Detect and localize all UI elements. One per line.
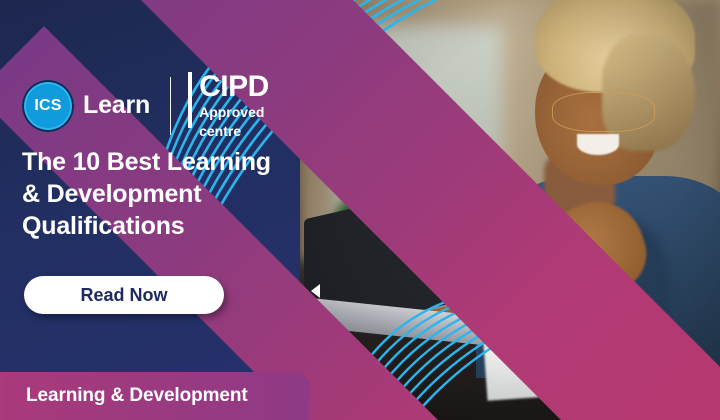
read-now-button[interactable]: Read Now [24,276,224,314]
cipd-text-block: CIPD Approved centre [199,72,269,139]
category-tag[interactable]: Learning & Development [0,372,310,420]
category-tag-label: Learning & Development [26,385,248,407]
brand-divider [170,77,171,135]
headline-line-2: & Development [22,178,332,210]
ics-logo-icon: ICS [22,80,74,132]
ics-logo-text: ICS [34,97,61,115]
headline: The 10 Best Learning & Development Quali… [22,146,332,242]
cipd-accreditation: CIPD Approved centre [188,72,269,139]
cipd-name: CIPD [199,72,269,102]
cipd-bar-icon [188,72,192,128]
ics-learn-wordmark: Learn [83,91,150,120]
cipd-sub-centre: centre [199,124,269,140]
headline-line-3: Qualifications [22,210,332,242]
cipd-sub-approved: Approved [199,105,269,121]
headline-line-1: The 10 Best Learning [22,146,332,178]
brand-lockup: ICS Learn CIPD Approved centre [22,72,269,139]
banner-content: ICS Learn CIPD Approved centre The 10 Be… [0,0,340,420]
promotional-banner[interactable]: ICS Learn CIPD Approved centre The 10 Be… [0,0,720,420]
